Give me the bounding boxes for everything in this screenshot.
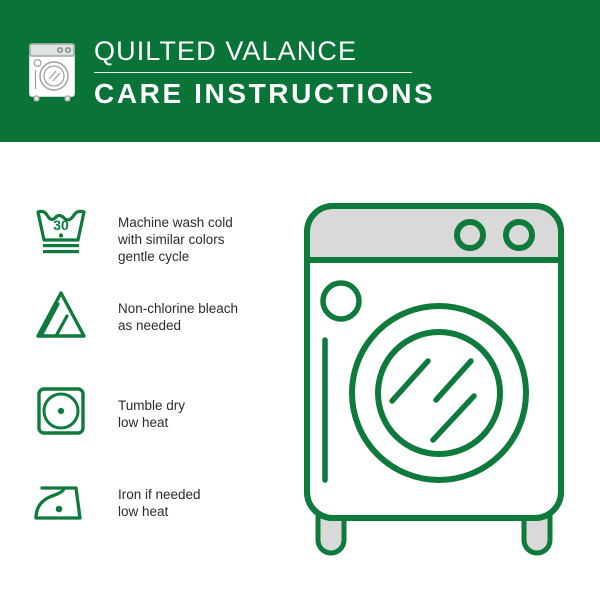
care-row-machine-wash: 30 Machine wash cold with similar colors…	[30, 200, 233, 265]
care-row-bleach: Non-chlorine bleach as needed	[30, 284, 238, 346]
tumble-dry-low-icon	[30, 380, 92, 442]
product-title: QUILTED VALANCE	[94, 36, 435, 66]
care-text-bleach: Non-chlorine bleach as needed	[118, 300, 238, 334]
care-line: low heat	[118, 503, 201, 520]
front-load-washing-machine-illustration	[296, 198, 572, 560]
header-title-block: QUILTED VALANCE CARE INSTRUCTIONS	[94, 36, 435, 110]
care-line: Iron if needed	[118, 486, 201, 503]
care-text-iron: Iron if needed low heat	[118, 486, 201, 520]
iron-low-heat-icon	[30, 472, 92, 534]
care-instructions-page: QUILTED VALANCE CARE INSTRUCTIONS 30 Mac…	[0, 0, 600, 600]
non-chlorine-bleach-icon	[30, 284, 92, 346]
title-divider	[94, 72, 412, 73]
care-line: as needed	[118, 317, 238, 334]
care-text-tumble-dry: Tumble dry low heat	[118, 397, 185, 431]
control-panel	[310, 209, 558, 260]
wash-temperature-value: 30	[53, 217, 69, 233]
washing-machine-icon	[26, 41, 78, 103]
care-row-iron: Iron if needed low heat	[30, 472, 201, 534]
care-line: low heat	[118, 414, 185, 431]
header-band: QUILTED VALANCE CARE INSTRUCTIONS	[0, 0, 600, 142]
care-line: with similar colors	[118, 231, 233, 248]
care-line: Non-chlorine bleach	[118, 300, 238, 317]
care-line: Tumble dry	[118, 397, 185, 414]
care-line: Machine wash cold	[118, 214, 233, 231]
header-content: QUILTED VALANCE CARE INSTRUCTIONS	[26, 36, 435, 110]
care-line: gentle cycle	[118, 248, 233, 265]
care-row-tumble-dry: Tumble dry low heat	[30, 380, 185, 442]
machine-wash-30-gentle-icon: 30	[30, 200, 92, 262]
page-title: CARE INSTRUCTIONS	[94, 78, 435, 110]
care-text-machine-wash: Machine wash cold with similar colors ge…	[118, 214, 233, 265]
